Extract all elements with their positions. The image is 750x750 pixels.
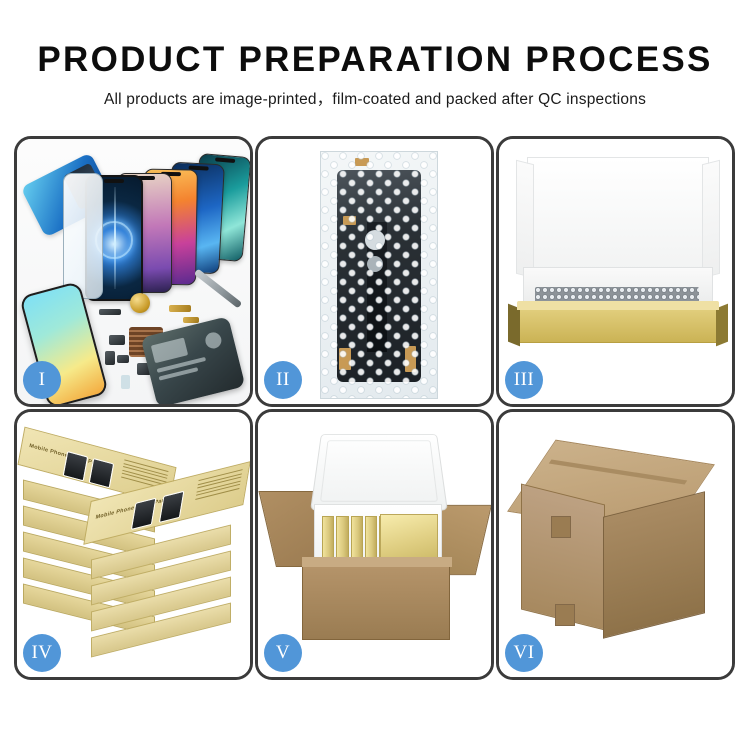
box-window-icon: [159, 491, 185, 523]
chassis-detail: [151, 337, 188, 363]
process-step-grid: I II: [14, 136, 736, 681]
carton-body-icon: [302, 564, 450, 640]
styrofoam-lid-icon: [310, 434, 448, 511]
step-badge-4: IV: [23, 634, 61, 672]
flex-cable-icon: [183, 317, 199, 323]
foam-liner-icon: [527, 157, 709, 281]
flex-cable-icon: [169, 305, 191, 312]
box-spec-lines: [195, 469, 243, 502]
tape-tab-icon: [555, 604, 575, 626]
gold-component-icon: [130, 293, 150, 313]
kraft-box-base-icon: [517, 307, 719, 343]
process-step-panel-5[interactable]: V: [255, 409, 494, 680]
box-stack-group: Mobile Phone Spare Parts Mobile Phone Sp…: [21, 438, 250, 666]
bubble-texture-overlay: [321, 152, 437, 398]
process-step-panel-6[interactable]: VI: [496, 409, 735, 680]
chassis-detail: [204, 331, 223, 350]
page-subtitle: All products are image-printed，film-coat…: [0, 87, 750, 109]
carton-right-face: [603, 491, 705, 638]
small-part-icon: [99, 309, 121, 315]
step-badge-5: V: [264, 634, 302, 672]
small-part-icon: [109, 335, 125, 345]
phone-fan-group: [77, 153, 250, 283]
step-badge-1: I: [23, 361, 61, 399]
page-title: PRODUCT PREPARATION PROCESS: [0, 40, 750, 80]
notch-icon: [215, 157, 235, 163]
tape-tab-icon: [551, 516, 571, 538]
small-part-icon: [105, 351, 115, 365]
process-step-panel-1[interactable]: I: [14, 136, 253, 407]
bubble-wrap-bag-icon: [320, 151, 438, 399]
process-step-panel-2[interactable]: II: [255, 136, 494, 407]
step-badge-3: III: [505, 361, 543, 399]
header: PRODUCT PREPARATION PROCESS All products…: [0, 0, 750, 109]
box-window-icon: [89, 458, 115, 488]
process-step-panel-4[interactable]: Mobile Phone Spare Parts Mobile Phone Sp…: [14, 409, 253, 680]
box-top-edge: [517, 301, 719, 310]
small-part-icon: [121, 375, 130, 389]
box-window-icon: [63, 451, 89, 481]
notch-icon: [104, 179, 124, 183]
step-badge-2: II: [264, 361, 302, 399]
tempered-glass-film-icon: [63, 173, 103, 299]
step-badge-6: VI: [505, 634, 543, 672]
box-window-icon: [131, 498, 157, 530]
process-step-panel-3[interactable]: III: [496, 136, 735, 407]
small-part-icon: [117, 355, 129, 363]
